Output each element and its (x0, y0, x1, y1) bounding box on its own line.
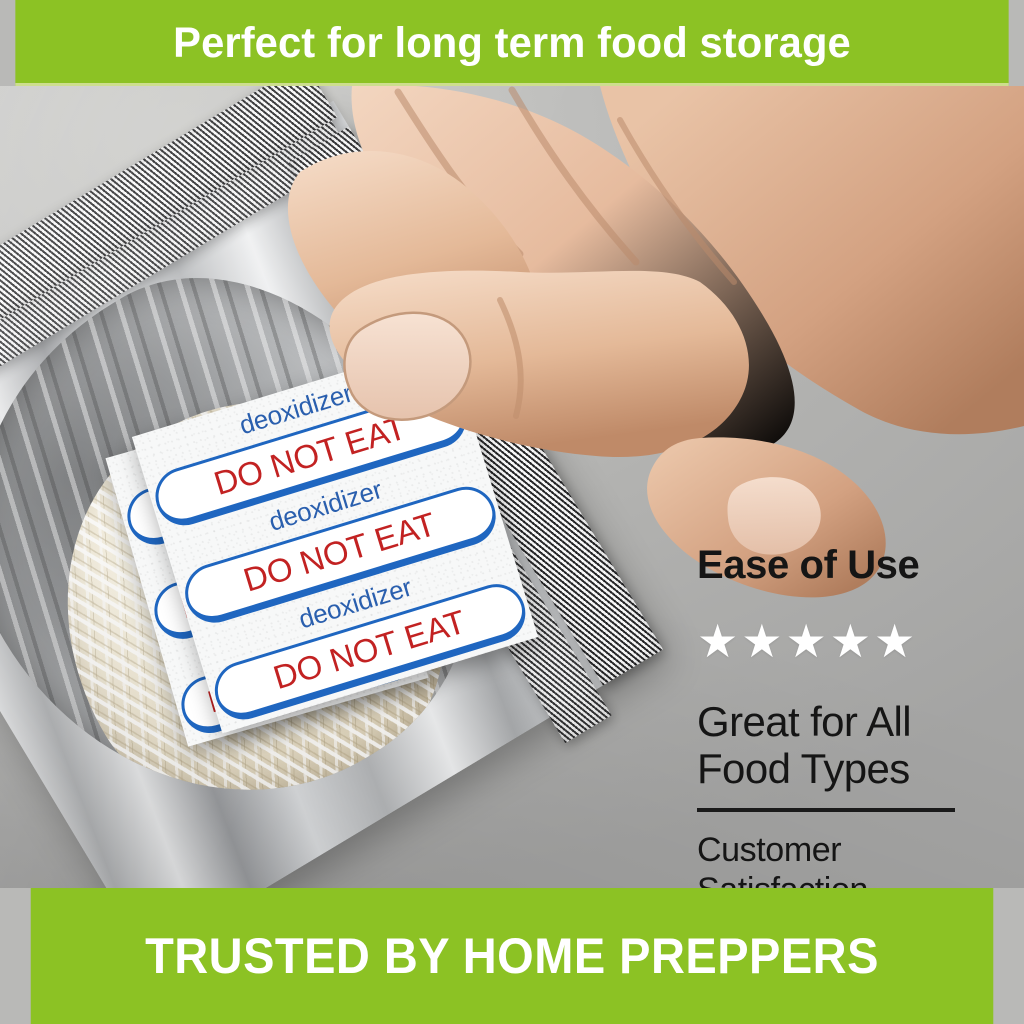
info-panel-subtitle-line-1: Great for All (697, 698, 965, 745)
info-panel-subtitle: Great for All Food Types (697, 698, 965, 792)
info-panel-title: Ease of Use (697, 544, 965, 586)
star-icon: ★ (874, 618, 915, 664)
bottom-banner-text: TRUSTED BY HOME PREPPERS (145, 927, 879, 985)
top-banner: Perfect for long term food storage (15, 0, 1008, 86)
star-icon: ★ (830, 618, 871, 664)
product-infographic: Perfect for long term food storage deoxi… (0, 0, 1024, 1024)
bottom-banner: TRUSTED BY HOME PREPPERS (31, 888, 994, 1024)
top-banner-text: Perfect for long term food storage (173, 19, 851, 68)
info-panel: Ease of Use ★ ★ ★ ★ ★ Great for All Food… (697, 544, 965, 888)
star-icon: ★ (697, 618, 738, 664)
info-panel-note-line-2: Satisfaction (697, 870, 965, 888)
product-photo: deoxidizer DO NOT EAT deoxidizer DO NOT … (0, 86, 1024, 888)
info-panel-subtitle-line-2: Food Types (697, 745, 965, 792)
info-panel-note: Customer Satisfaction (697, 830, 965, 888)
star-icon: ★ (786, 618, 827, 664)
star-icon: ★ (741, 618, 782, 664)
star-rating: ★ ★ ★ ★ ★ (697, 618, 965, 664)
info-panel-note-line-1: Customer (697, 830, 965, 870)
info-panel-divider (697, 808, 955, 812)
